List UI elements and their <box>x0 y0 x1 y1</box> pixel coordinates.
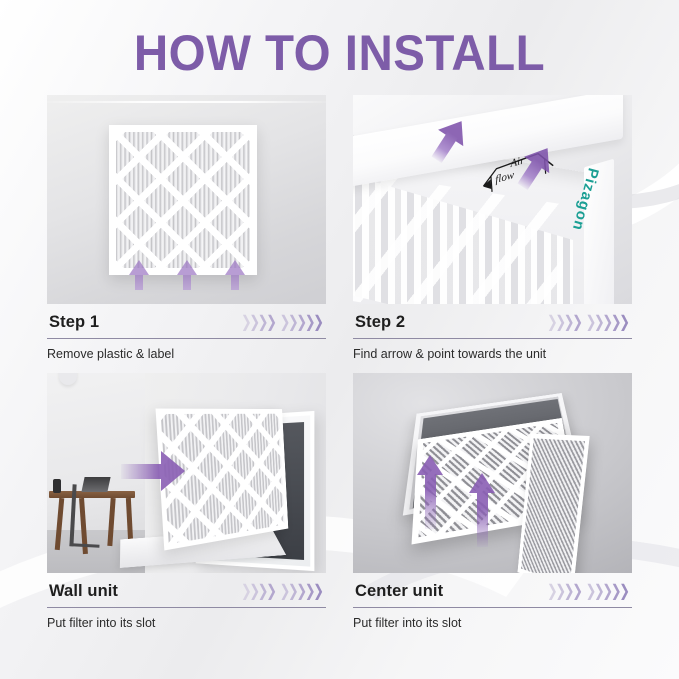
center-unit-heading: Center unit <box>355 582 443 601</box>
step-2-heading-row: Step 2 ❯❯❯❯ ❯❯❯❯❯ <box>353 304 632 339</box>
step-1-heading: Step 1 <box>49 313 99 332</box>
step-2-heading: Step 2 <box>355 313 405 332</box>
step-card-2: Pizagon Air flow Step 2 ❯❯❯❯ <box>353 95 632 361</box>
chevron-group-b: ❯❯❯❯❯ <box>282 585 324 598</box>
up-arrow-icon <box>177 260 197 290</box>
grille-mesh-pattern <box>521 438 585 573</box>
chevron-icon: ❯ <box>572 314 583 330</box>
step-card-3: Wall unit ❯❯❯❯ ❯❯❯❯❯ Put filter into its… <box>47 373 326 630</box>
up-arrow-icon <box>417 455 443 529</box>
chair <box>69 484 102 547</box>
pendant-lamp <box>59 373 77 385</box>
chevron-icon: ❯ <box>619 583 630 599</box>
chevron-arrows-icon: ❯❯❯❯ ❯❯❯❯❯ <box>243 585 324 598</box>
step-2-photo: Pizagon Air flow <box>353 95 632 304</box>
step-card-1: Step 1 ❯❯❯❯ ❯❯❯❯❯ Remove plastic & label <box>47 95 326 361</box>
laptop <box>81 477 110 492</box>
chevron-group-a: ❯❯❯❯ <box>549 585 583 598</box>
wall-unit-heading: Wall unit <box>49 582 118 601</box>
chevron-icon: ❯ <box>266 314 277 330</box>
wall-unit-photo <box>47 373 326 573</box>
air-filter-front <box>109 125 257 275</box>
chevron-group-a: ❯❯❯❯ <box>549 316 583 329</box>
step-1-photo <box>47 95 326 304</box>
center-unit-description: Put filter into its slot <box>353 608 632 630</box>
up-arrow-icon <box>129 260 149 290</box>
wall-unit-description: Put filter into its slot <box>47 608 326 630</box>
airflow-arrows-group <box>417 455 495 547</box>
insert-direction-arrow-icon <box>121 451 185 491</box>
airflow-arrows-group <box>47 260 326 290</box>
steps-grid: Step 1 ❯❯❯❯ ❯❯❯❯❯ Remove plastic & label… <box>47 95 632 630</box>
chevron-icon: ❯ <box>572 583 583 599</box>
step-2-description: Find arrow & point towards the unit <box>353 339 632 361</box>
filter-mesh-pattern <box>116 132 250 268</box>
chevron-group-a: ❯❯❯❯ <box>243 585 277 598</box>
center-unit-heading-row: Center unit ❯❯❯❯ ❯❯❯❯❯ <box>353 573 632 608</box>
step-1-description: Remove plastic & label <box>47 339 326 361</box>
chevron-arrows-icon: ❯❯❯❯ ❯❯❯❯❯ <box>243 316 324 329</box>
chevron-icon: ❯ <box>619 314 630 330</box>
chevron-icon: ❯ <box>313 314 324 330</box>
step-1-heading-row: Step 1 ❯❯❯❯ ❯❯❯❯❯ <box>47 304 326 339</box>
step-card-4: Center unit ❯❯❯❯ ❯❯❯❯❯ Put filter into i… <box>353 373 632 630</box>
chevron-arrows-icon: ❯❯❯❯ ❯❯❯❯❯ <box>549 585 630 598</box>
chevron-group-b: ❯❯❯❯❯ <box>588 585 630 598</box>
center-unit-photo <box>353 373 632 573</box>
table-leg <box>126 498 133 542</box>
chevron-icon: ❯ <box>266 583 277 599</box>
vase <box>53 479 61 493</box>
chevron-group-b: ❯❯❯❯❯ <box>282 316 324 329</box>
up-arrow-icon <box>225 260 245 290</box>
chevron-group-a: ❯❯❯❯ <box>243 316 277 329</box>
chevron-icon: ❯ <box>313 583 324 599</box>
wall-unit-heading-row: Wall unit ❯❯❯❯ ❯❯❯❯❯ <box>47 573 326 608</box>
up-arrow-icon <box>469 473 495 547</box>
wall-edge-line <box>47 101 326 103</box>
chevron-arrows-icon: ❯❯❯❯ ❯❯❯❯❯ <box>549 316 630 329</box>
chevron-group-b: ❯❯❯❯❯ <box>588 316 630 329</box>
page-title: HOW TO INSTALL <box>17 24 662 82</box>
